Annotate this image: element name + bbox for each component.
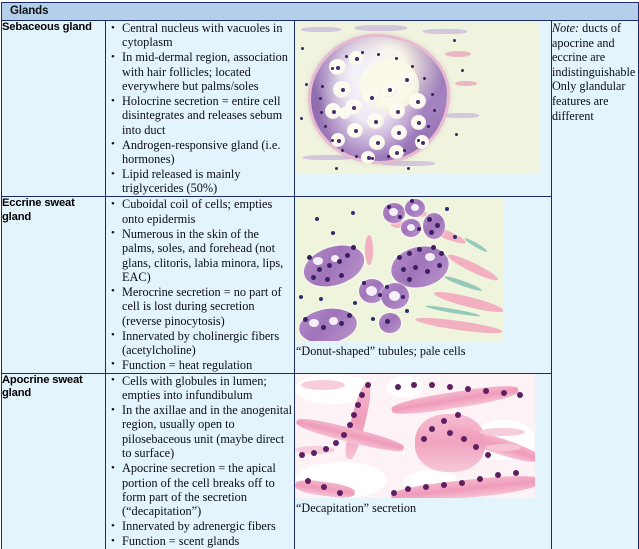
list-item: Innervated by cholinergic fibers (acetyl… (122, 329, 294, 358)
micrograph-caption-apocrine: “Decapitation” secretion (295, 498, 551, 516)
gland-reference-table-page: Glands Sebaceous gland Central nucleus w… (0, 0, 639, 549)
gland-name-cell-sebaceous: Sebaceous gland (2, 21, 106, 197)
list-item: Cells with globules in lumen; empties in… (122, 374, 294, 403)
table-header-cell: Glands (2, 3, 639, 21)
sebaceous-gland-micrograph (295, 21, 539, 173)
list-item: Lipid released is mainly triglycerides (… (122, 167, 294, 196)
note-paragraph-2: Only glandular features are different (552, 79, 638, 123)
features-list-eccrine: Cuboidal coil of cells; empties onto epi… (106, 197, 294, 372)
table-row-sebaceous: Sebaceous gland Central nucleus with vac… (2, 21, 639, 197)
features-list-sebaceous: Central nucleus with vacuoles in cytopla… (106, 21, 294, 196)
list-item: In the axillae and in the anogenital reg… (122, 403, 294, 461)
list-item: Function = heat regulation (122, 358, 294, 372)
gland-name-cell-eccrine: Eccrine sweat gland (2, 197, 106, 373)
eccrine-sweat-gland-micrograph (295, 197, 503, 341)
note-text: Note: ducts of apocrine and eccrine are … (552, 21, 638, 123)
table-row-apocrine: Apocrine sweat gland Cells with globules… (2, 373, 639, 549)
table-title: Glands (10, 4, 630, 18)
list-item: Cuboidal coil of cells; empties onto epi… (122, 197, 294, 226)
features-cell-sebaceous: Central nucleus with vacuoles in cytopla… (106, 21, 295, 197)
note-paragraph-1: Note: ducts of apocrine and eccrine are … (552, 21, 638, 79)
list-item: Function = scent glands (pheromones) (122, 534, 294, 549)
list-item: Merocrine secretion = no part of cell is… (122, 285, 294, 328)
apocrine-sweat-gland-micrograph (295, 374, 535, 498)
list-item: Androgen-responsive gland (i.e. hormones… (122, 138, 294, 167)
gland-name-apocrine: Apocrine sweat gland (2, 374, 105, 401)
list-item: Numerous in the skin of the palms, soles… (122, 227, 294, 285)
glands-table: Glands Sebaceous gland Central nucleus w… (1, 2, 639, 549)
table-row-eccrine: Eccrine sweat gland Cuboidal coil of cel… (2, 197, 639, 373)
features-cell-apocrine: Cells with globules in lumen; empties in… (106, 373, 295, 549)
features-list-apocrine: Cells with globules in lumen; empties in… (106, 374, 294, 549)
list-item: Holocrine secretion = entire cell disint… (122, 94, 294, 137)
notes-cell: Note: ducts of apocrine and eccrine are … (552, 21, 639, 549)
micrograph-cell-sebaceous (295, 21, 552, 197)
micrograph-cell-apocrine: “Decapitation” secretion (295, 373, 552, 549)
list-item: In mid-dermal region, association with h… (122, 50, 294, 93)
list-item: Innervated by adrenergic fibers (122, 519, 294, 533)
table-header-row: Glands (2, 3, 639, 21)
gland-name-cell-apocrine: Apocrine sweat gland (2, 373, 106, 549)
micrograph-caption-eccrine: “Donut-shaped” tubules; pale cells (295, 341, 551, 359)
gland-name-eccrine: Eccrine sweat gland (2, 197, 105, 224)
list-item: Apocrine secretion = the apical portion … (122, 461, 294, 519)
note-lead: Note: (552, 21, 579, 35)
gland-name-sebaceous: Sebaceous gland (2, 21, 105, 35)
micrograph-cell-eccrine: “Donut-shaped” tubules; pale cells (295, 197, 552, 373)
features-cell-eccrine: Cuboidal coil of cells; empties onto epi… (106, 197, 295, 373)
list-item: Central nucleus with vacuoles in cytopla… (122, 21, 294, 50)
